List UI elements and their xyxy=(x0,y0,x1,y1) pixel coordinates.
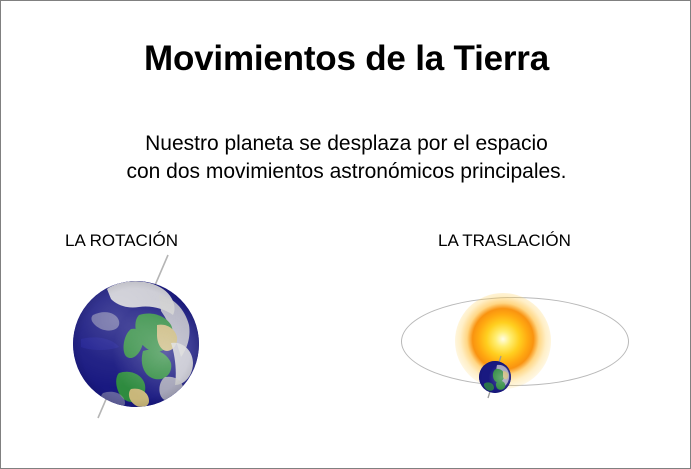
subtitle-line-1: Nuestro planeta se desplaza por el espac… xyxy=(1,130,691,158)
earth-globe-icon xyxy=(73,281,199,407)
page-title: Movimientos de la Tierra xyxy=(1,39,691,79)
small-earth-globe-icon xyxy=(479,361,511,393)
subtitle-line-2: con dos movimientos astronómicos princip… xyxy=(1,158,691,186)
slide-canvas: Movimientos de la Tierra Nuestro planeta… xyxy=(0,0,691,469)
caption-traslacion: LA TRASLACIÓN xyxy=(438,231,571,251)
globe-shading xyxy=(73,281,199,407)
subtitle-block: Nuestro planeta se desplaza por el espac… xyxy=(1,130,691,186)
rotation-illustration xyxy=(56,253,256,433)
small-globe-shading xyxy=(479,361,511,393)
caption-rotacion: LA ROTACIÓN xyxy=(65,231,178,251)
translation-illustration xyxy=(393,289,637,401)
